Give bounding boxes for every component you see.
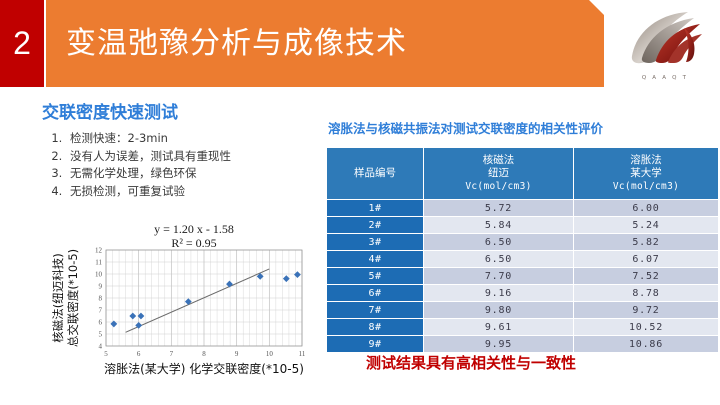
svg-text:11: 11 xyxy=(299,350,306,358)
cell-swelling-value: 5.24 xyxy=(574,217,718,233)
svg-text:8: 8 xyxy=(99,295,103,303)
table-row: 6#9.168.78 xyxy=(327,285,718,301)
table-title: 溶胀法与核磁共振法对测试交联密度的相关性评价 xyxy=(328,118,708,137)
col-header-swelling: 溶胀法 某大学 Vc(mol/cm3) xyxy=(574,148,718,199)
list-item: 无需化学处理，绿色环保 xyxy=(66,165,328,183)
col-header-nmr: 核磁法 纽迈 Vc(mol/cm3) xyxy=(424,148,573,199)
svg-text:核磁法(纽迈科技): 核磁法(纽迈科技) xyxy=(51,253,65,342)
table-row: 1#5.726.00 xyxy=(327,200,718,216)
svg-text:4: 4 xyxy=(99,343,103,351)
svg-text:6: 6 xyxy=(99,319,103,327)
svg-text:7: 7 xyxy=(99,307,103,315)
cell-swelling-value: 10.52 xyxy=(574,319,718,335)
cell-swelling-value: 8.78 xyxy=(574,285,718,301)
svg-text:8: 8 xyxy=(202,350,206,358)
cell-swelling-value: 7.52 xyxy=(574,268,718,284)
col-header-sample-id: 样品编号 xyxy=(327,148,423,199)
svg-text:9: 9 xyxy=(235,350,239,358)
svg-text:7: 7 xyxy=(170,350,174,358)
table-row: 9#9.9510.86 xyxy=(327,336,718,352)
svg-text:6: 6 xyxy=(137,350,141,358)
cell-nmr-value: 9.61 xyxy=(424,319,573,335)
cell-nmr-value: 6.50 xyxy=(424,251,573,267)
list-item: 没有人为误差，测试具有重现性 xyxy=(66,148,328,166)
brand-wordmark: Q A A Q T xyxy=(622,75,708,81)
cell-nmr-value: 9.95 xyxy=(424,336,573,352)
svg-text:5: 5 xyxy=(99,331,103,339)
cell-swelling-value: 5.82 xyxy=(574,234,718,250)
table-row: 5#7.707.52 xyxy=(327,268,718,284)
table-row: 8#9.6110.52 xyxy=(327,319,718,335)
svg-text:总交联密度(*10-5): 总交联密度(*10-5) xyxy=(66,249,80,347)
section-heading: 交联密度快速测试 xyxy=(42,98,328,123)
svg-text:11: 11 xyxy=(95,259,102,267)
correlation-scatter-chart: y = 1.20 x - 1.58 R² = 0.95 567891011456… xyxy=(34,222,326,382)
scatter-plot-svg: 567891011456789101112核磁法(纽迈科技)总交联密度(*10-… xyxy=(34,222,326,382)
cell-nmr-value: 6.50 xyxy=(424,234,573,250)
slide-header: 2 变温弛豫分析与成像技术 xyxy=(0,0,720,87)
list-item: 检测快速：2-3min xyxy=(66,130,328,148)
cell-nmr-value: 9.80 xyxy=(424,302,573,318)
svg-text:5: 5 xyxy=(104,350,108,358)
feature-list: 检测快速：2-3min 没有人为误差，测试具有重现性 无需化学处理，绿色环保 无… xyxy=(44,130,328,200)
cell-sample-id: 7# xyxy=(327,302,423,318)
cell-sample-id: 1# xyxy=(327,200,423,216)
svg-text:溶胀法(某大学) 化学交联密度(*10-5): 溶胀法(某大学) 化学交联密度(*10-5) xyxy=(104,361,304,376)
table-body: 1#5.726.002#5.845.243#6.505.824#6.506.07… xyxy=(327,200,718,352)
table-head: 样品编号 核磁法 纽迈 Vc(mol/cm3) 溶胀法 某大学 Vc(mol/c… xyxy=(327,148,718,199)
rog-eye-icon xyxy=(622,8,708,70)
cell-nmr-value: 7.70 xyxy=(424,268,573,284)
cell-sample-id: 8# xyxy=(327,319,423,335)
cell-nmr-value: 9.16 xyxy=(424,285,573,301)
page-title: 变温弛豫分析与成像技术 xyxy=(66,0,407,87)
left-column: 交联密度快速测试 检测快速：2-3min 没有人为误差，测试具有重现性 无需化学… xyxy=(38,98,328,200)
svg-text:12: 12 xyxy=(95,247,103,255)
svg-text:10: 10 xyxy=(266,350,274,358)
table-row: 2#5.845.24 xyxy=(327,217,718,233)
brand-logo: Q A A Q T xyxy=(622,8,708,82)
list-item: 无损检测，可重复试验 xyxy=(66,183,328,201)
table-row: 4#6.506.07 xyxy=(327,251,718,267)
cell-swelling-value: 10.86 xyxy=(574,336,718,352)
cell-swelling-value: 6.07 xyxy=(574,251,718,267)
cell-sample-id: 5# xyxy=(327,268,423,284)
table-header-row: 样品编号 核磁法 纽迈 Vc(mol/cm3) 溶胀法 某大学 Vc(mol/c… xyxy=(327,148,718,199)
cell-swelling-value: 9.72 xyxy=(574,302,718,318)
cell-sample-id: 4# xyxy=(327,251,423,267)
cell-sample-id: 6# xyxy=(327,285,423,301)
table-row: 3#6.505.82 xyxy=(327,234,718,250)
correlation-table: 样品编号 核磁法 纽迈 Vc(mol/cm3) 溶胀法 某大学 Vc(mol/c… xyxy=(326,147,719,353)
cell-sample-id: 2# xyxy=(327,217,423,233)
slide-number: 2 xyxy=(0,0,44,87)
conclusion-note: 测试结果具有高相关性与一致性 xyxy=(366,352,576,373)
cell-nmr-value: 5.72 xyxy=(424,200,573,216)
cell-sample-id: 3# xyxy=(327,234,423,250)
cell-swelling-value: 6.00 xyxy=(574,200,718,216)
cell-nmr-value: 5.84 xyxy=(424,217,573,233)
right-column: 溶胀法与核磁共振法对测试交联密度的相关性评价 样品编号 核磁法 纽迈 Vc(mo… xyxy=(326,118,708,353)
svg-text:10: 10 xyxy=(95,271,103,279)
table-row: 7#9.809.72 xyxy=(327,302,718,318)
cell-sample-id: 9# xyxy=(327,336,423,352)
svg-text:9: 9 xyxy=(99,283,103,291)
